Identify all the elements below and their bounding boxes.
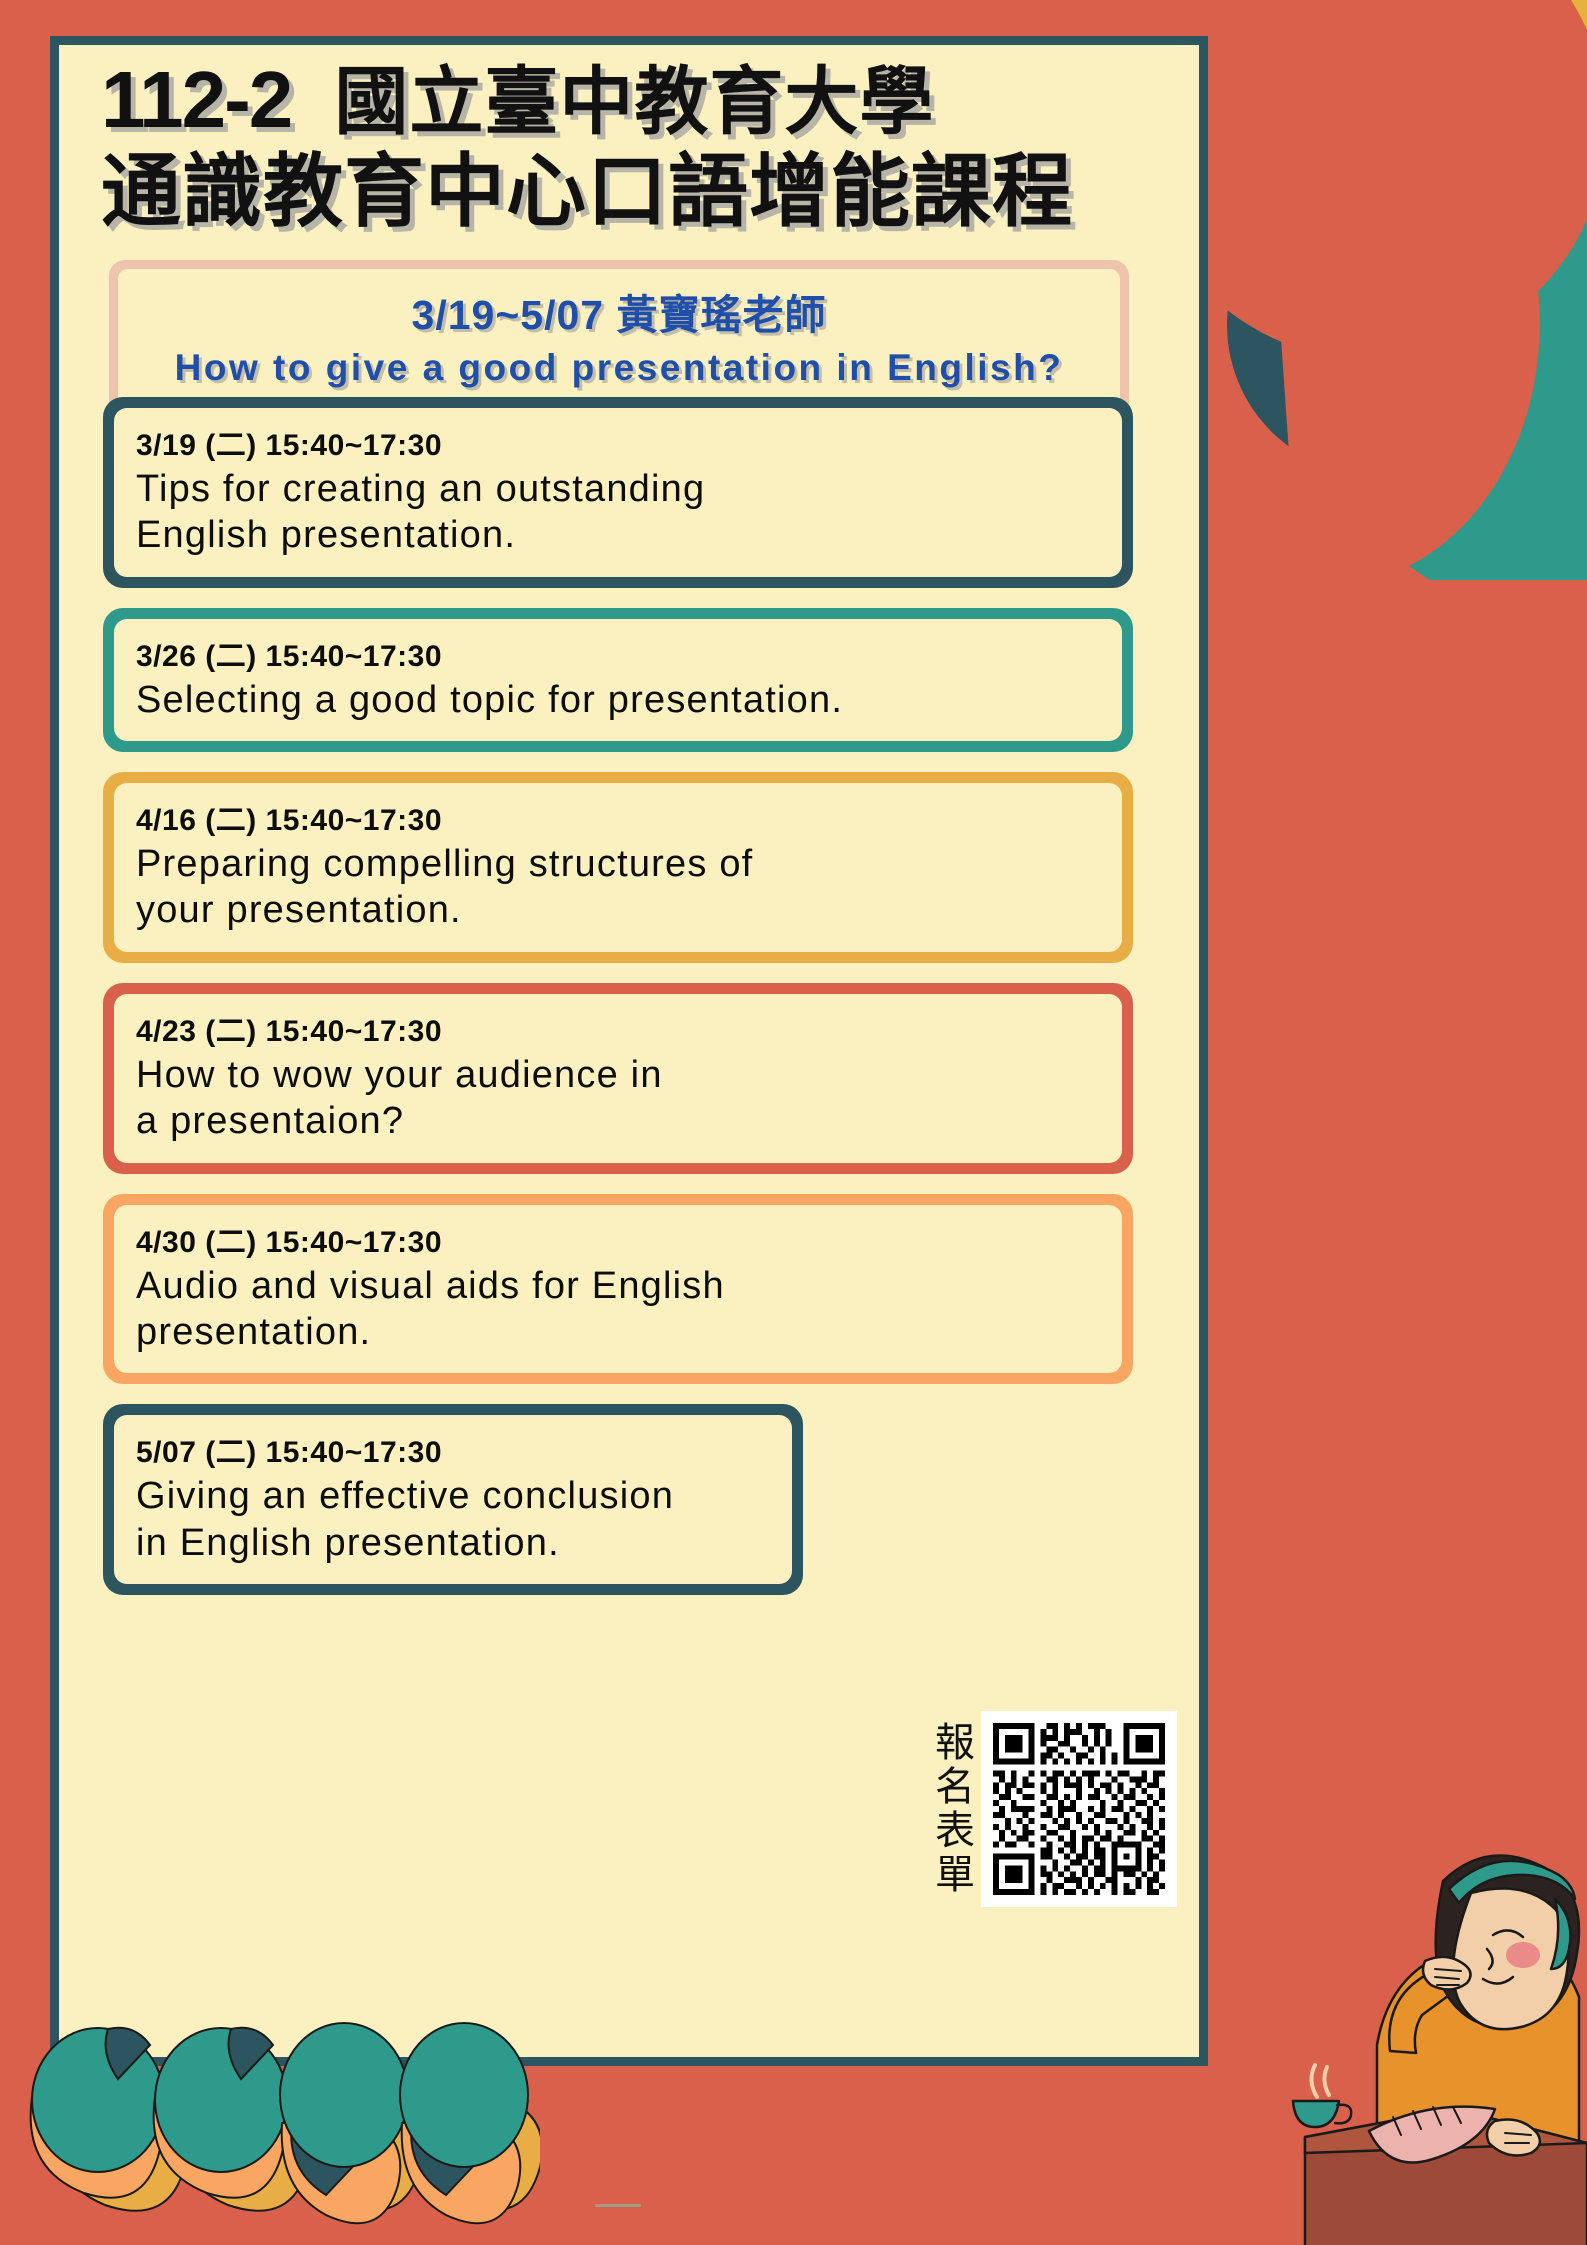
session-datetime: 4/30 (二) 15:40~17:30: [136, 1217, 1100, 1261]
session-card-body: 3/26 (二) 15:40~17:30Selecting a good top…: [114, 619, 1122, 741]
session-card-body: 5/07 (二) 15:40~17:30Giving an effective …: [114, 1415, 792, 1584]
title-course: 通識教育中心口語增能課程: [101, 149, 1171, 235]
session-card-body: 4/30 (二) 15:40~17:30Audio and visual aid…: [114, 1205, 1122, 1374]
session-card-body: 4/16 (二) 15:40~17:30Preparing compelling…: [114, 783, 1122, 952]
session-datetime: 4/23 (二) 15:40~17:30: [136, 1006, 1100, 1050]
blob-red-tail-shape: [1276, 251, 1558, 580]
qr-code-svg: [993, 1723, 1165, 1895]
title-university: 國立臺中教育大學: [334, 60, 934, 143]
session-card[interactable]: 4/16 (二) 15:40~17:30Preparing compelling…: [103, 772, 1133, 963]
registration-label: 報名表單: [931, 1721, 971, 1897]
session-card[interactable]: 3/26 (二) 15:40~17:30Selecting a good top…: [103, 608, 1133, 752]
session-topic: Tips for creating an outstanding English…: [136, 466, 1100, 559]
session-topic: Selecting a good topic for presentation.: [136, 677, 1100, 723]
subtitle-banner: 3/19~5/07 黃寶瑤老師 How to give a good prese…: [109, 260, 1129, 416]
qr-code-icon[interactable]: [981, 1711, 1177, 1907]
poster-page: 112-2 國立臺中教育大學 通識教育中心口語增能課程 3/19~5/07 黃寶…: [50, 36, 1208, 2066]
title-term: 112-2: [101, 55, 291, 144]
poster-canvas: 112-2 國立臺中教育大學 通識教育中心口語增能課程 3/19~5/07 黃寶…: [0, 0, 1587, 2245]
woman-reading-at-table-illustration: [1257, 1815, 1587, 2245]
quotation-marks-icon: [10, 2005, 540, 2235]
session-topic: Giving an effective conclusion in Englis…: [136, 1473, 770, 1566]
blob-dark-teal-shape: [1227, 175, 1527, 475]
blob-teal-shape: [1307, 90, 1587, 580]
session-card[interactable]: 4/30 (二) 15:40~17:30Audio and visual aid…: [103, 1194, 1133, 1385]
session-datetime: 3/19 (二) 15:40~17:30: [136, 420, 1100, 464]
banner-date-teacher: 3/19~5/07 黃寶瑤老師: [134, 281, 1104, 341]
session-card[interactable]: 4/23 (二) 15:40~17:30How to wow your audi…: [103, 983, 1133, 1174]
banner-english-subtitle: How to give a good presentation in Engli…: [134, 347, 1104, 389]
session-card-body: 4/23 (二) 15:40~17:30How to wow your audi…: [114, 994, 1122, 1163]
session-topic: How to wow your audience in a presentaio…: [136, 1052, 1100, 1145]
session-datetime: 3/26 (二) 15:40~17:30: [136, 631, 1100, 675]
session-topic: Audio and visual aids for English presen…: [136, 1263, 1100, 1356]
session-card[interactable]: 5/07 (二) 15:40~17:30Giving an effective …: [103, 1404, 803, 1595]
session-list: 3/19 (二) 15:40~17:30Tips for creating an…: [103, 397, 1133, 1615]
session-card[interactable]: 3/19 (二) 15:40~17:30Tips for creating an…: [103, 397, 1133, 588]
page-title: 112-2 國立臺中教育大學 通識教育中心口語增能課程: [101, 57, 1171, 236]
blob-yellow-shape: [1193, 0, 1587, 449]
session-datetime: 4/16 (二) 15:40~17:30: [136, 795, 1100, 839]
session-datetime: 5/07 (二) 15:40~17:30: [136, 1427, 770, 1471]
session-card-body: 3/19 (二) 15:40~17:30Tips for creating an…: [114, 408, 1122, 577]
session-topic: Preparing compelling structures of your …: [136, 841, 1100, 934]
bottom-divider: [595, 2204, 641, 2207]
registration-block[interactable]: 報名表單: [931, 1711, 1177, 1907]
